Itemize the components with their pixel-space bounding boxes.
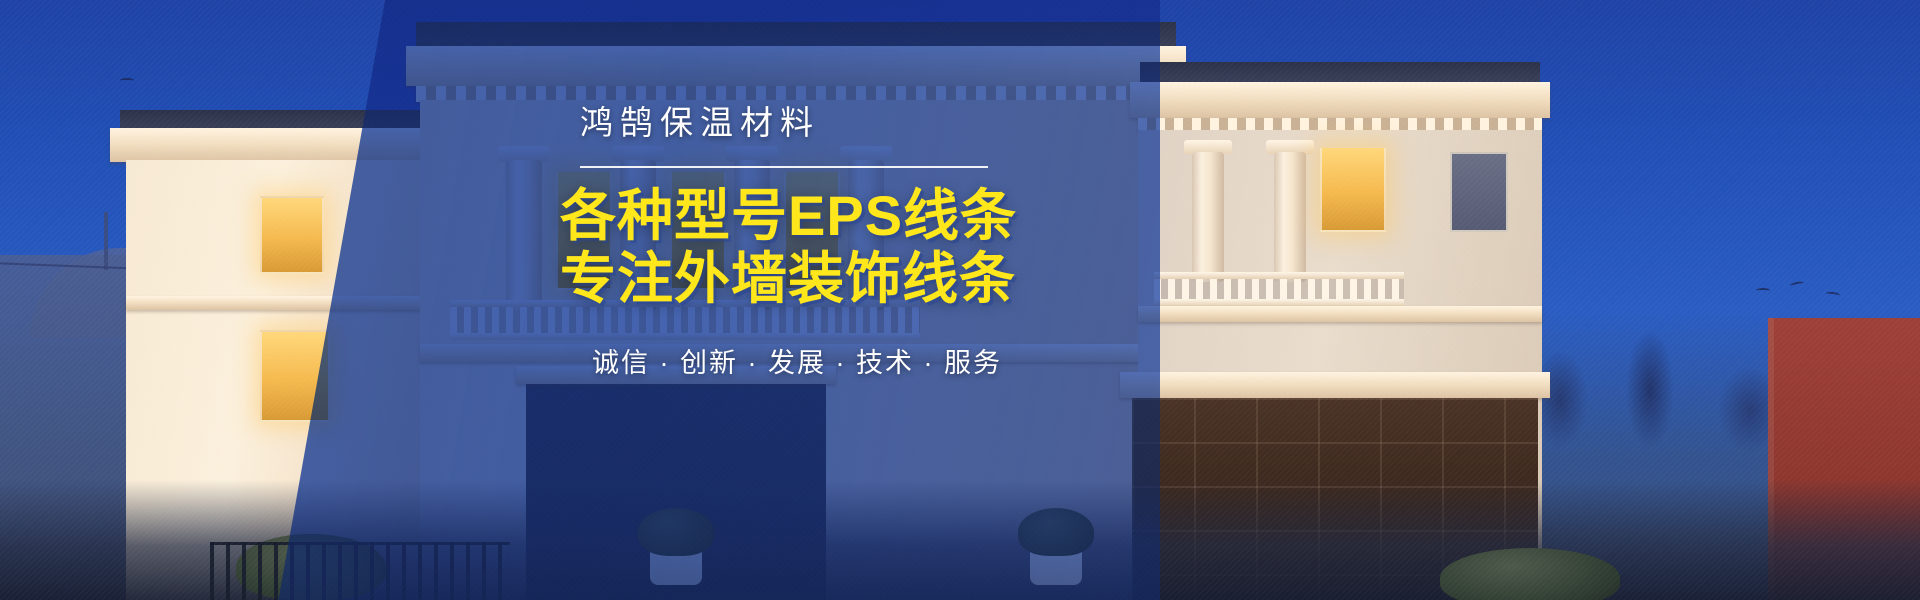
headline-line-2: 专注外墙装饰线条 [560, 247, 1180, 310]
hero-banner: 鸿鹄保温材料 各种型号EPS线条 专注外墙装饰线条 诚信 · 创新 · 发展 ·… [0, 0, 1920, 600]
right-wing-band [1138, 306, 1542, 322]
window [1450, 152, 1508, 232]
right-wing-roof [1140, 62, 1540, 84]
garage-lintel [1120, 372, 1550, 398]
balustrade [1154, 272, 1404, 306]
background-mast [104, 212, 108, 270]
brand-name: 鸿鹄保温材料 [580, 96, 1180, 144]
column [1192, 152, 1224, 282]
headline-line-1: 各种型号EPS线条 [560, 184, 1180, 247]
text-divider [580, 166, 988, 168]
shrub [1440, 548, 1620, 600]
window [260, 196, 324, 274]
tagline: 诚信 · 创新 · 发展 · 技术 · 服务 [592, 341, 1180, 380]
column [1274, 152, 1306, 282]
window [1320, 146, 1386, 232]
banner-text-block: 鸿鹄保温材料 各种型号EPS线条 专注外墙装饰线条 诚信 · 创新 · 发展 ·… [560, 96, 1180, 380]
right-wing-cornice [1130, 82, 1550, 118]
bird-icon [1756, 288, 1770, 293]
